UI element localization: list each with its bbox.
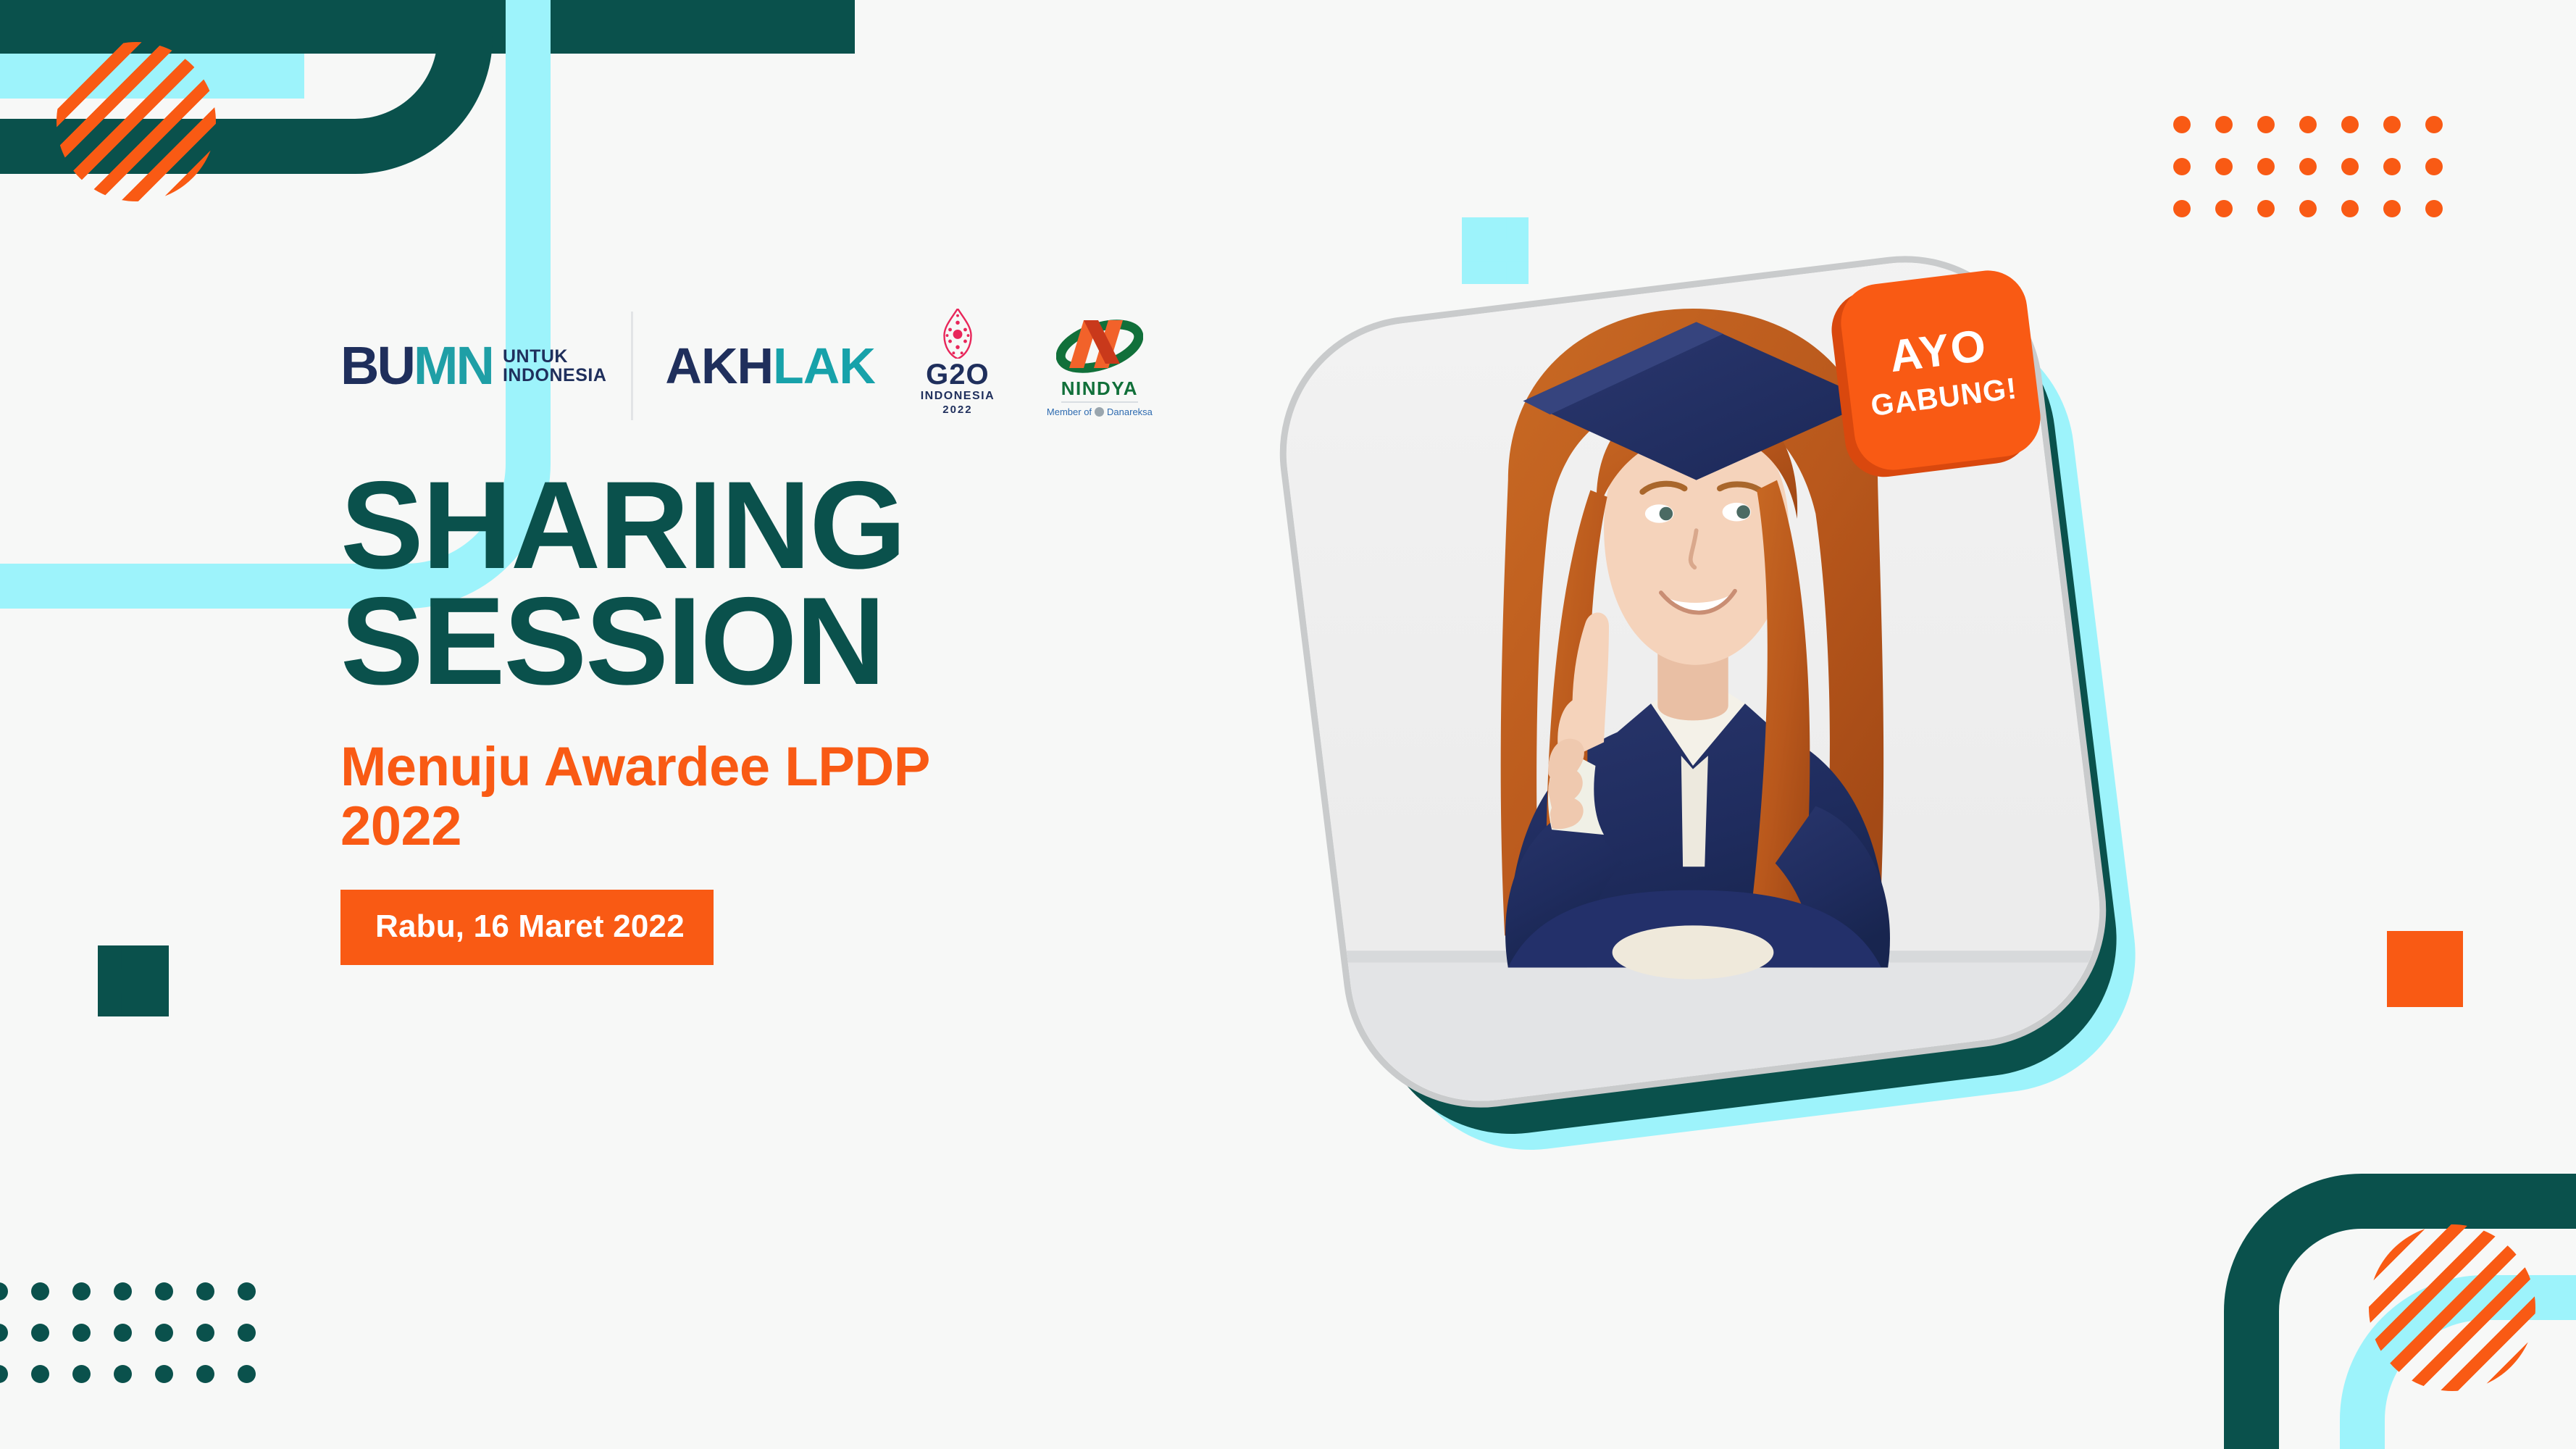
dot [155,1365,173,1383]
dot [196,1365,214,1383]
dot-grid-top-right [2173,116,2467,242]
plus-icon-left [98,945,169,1016]
headline-line-2: SESSION [340,584,1217,700]
g20-ornament-icon [935,309,980,359]
dot [0,1282,8,1300]
danareksa-logo-icon [1095,407,1104,417]
dot [155,1324,173,1342]
dot [238,1365,256,1383]
logo-bumn: BUMN UNTUK INDONESIA [340,312,633,420]
dot [0,1324,8,1342]
logo-akhlak: AKHLAK [633,312,907,420]
bumn-tagline-line2: INDONESIA [503,366,606,385]
dot [238,1282,256,1300]
bumn-wordmark: BUMN [340,339,493,393]
dot [2425,158,2443,175]
bumn-word-part2: MN [414,335,493,396]
dot [2383,158,2401,175]
dot [2383,200,2401,217]
dot [114,1365,132,1383]
dot [2257,116,2275,133]
dot [72,1324,91,1342]
bumn-word-part1: BU [340,335,414,396]
dot [2299,158,2317,175]
striped-circle-top-left [57,42,216,201]
striped-circle-bottom-right [2369,1224,2535,1391]
dot [238,1324,256,1342]
dot-grid-bottom-left [0,1282,279,1406]
logo-nindya: NINDYA Member of Danareksa [1027,309,1172,420]
nindya-mark-icon [1056,316,1143,377]
dot [31,1324,49,1342]
g20-country: INDONESIA [921,389,995,404]
cta-badge[interactable]: AYO GABUNG! [1836,266,2045,475]
content-column: BUMN UNTUK INDONESIA AKHLAK [340,312,1217,965]
partner-logo-row: BUMN UNTUK INDONESIA AKHLAK [340,312,1217,420]
page-subtitle: Menuju Awardee LPDP 2022 [340,738,1108,856]
dot [2215,200,2233,217]
dot [2299,116,2317,133]
nindya-name: NINDYA [1061,379,1138,403]
dot [114,1282,132,1300]
dot [2257,158,2275,175]
g20-title: G2O [926,360,989,389]
dot [2173,158,2191,175]
logo-g20: G2O INDONESIA 2022 [907,309,1008,420]
dot [2341,200,2359,217]
headline-line-1: SHARING [340,468,1217,584]
dot [72,1365,91,1383]
plus-icon-right [2387,931,2463,1007]
dot [2341,116,2359,133]
bumn-tagline-line1: UNTUK [503,347,606,366]
dot [31,1282,49,1300]
nindya-parent-name: Danareksa [1107,406,1153,417]
cta-badge-line-1: AYO [1887,323,1989,380]
dot [2215,158,2233,175]
bumn-tagline: UNTUK INDONESIA [503,347,606,385]
photo-composition: AYO GABUNG! [1275,239,2202,1253]
dot [2173,200,2191,217]
dot [72,1282,91,1300]
dot [31,1365,49,1383]
dot [155,1282,173,1300]
akhlak-word-part2: LAK [773,338,875,394]
page-title: SHARING SESSION [340,468,1217,700]
akhlak-word-part1: AKH [665,338,773,394]
subtitle-line-2: 2022 [340,797,1108,856]
dot [196,1282,214,1300]
dot [2383,116,2401,133]
dot [2425,116,2443,133]
dot [2215,116,2233,133]
nindya-parent-line: Member of Danareksa [1047,406,1153,417]
dot [2425,200,2443,217]
subtitle-line-1: Menuju Awardee LPDP [340,738,1108,797]
dot [2299,200,2317,217]
dot [196,1324,214,1342]
dot [114,1324,132,1342]
event-date-badge: Rabu, 16 Maret 2022 [340,890,714,965]
dot [0,1365,8,1383]
banner-canvas: BUMN UNTUK INDONESIA AKHLAK [0,0,2576,1449]
akhlak-wordmark: AKHLAK [665,341,875,391]
cta-badge-line-2: GABUNG! [1869,373,2018,420]
g20-year: 2022 [942,404,972,417]
dot [2257,200,2275,217]
nindya-member-of-label: Member of [1047,406,1092,417]
dot [2341,158,2359,175]
dot [2173,116,2191,133]
